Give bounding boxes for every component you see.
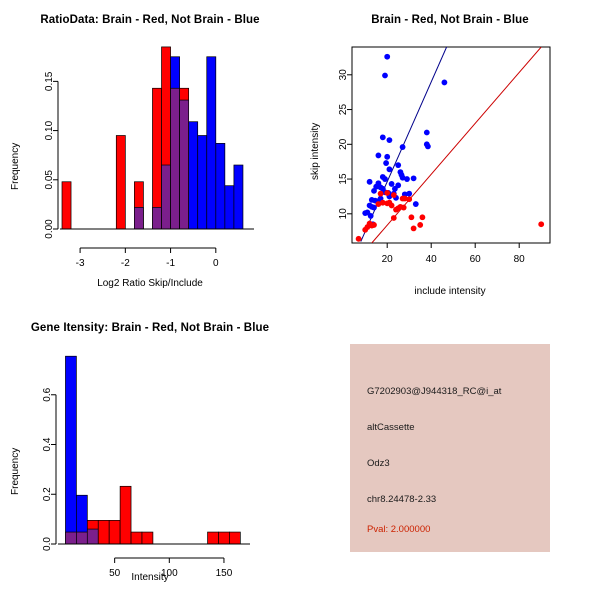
scatter-point (401, 205, 407, 211)
histogram-bar (208, 532, 219, 544)
histogram-bar (98, 520, 109, 544)
histogram-bar (62, 182, 71, 229)
scatter-point (389, 181, 395, 187)
plot-frame (352, 47, 550, 243)
scatter-ylabel: skip intensity (310, 123, 321, 180)
gene-histogram-title: Gene Itensity: Brain - Red, Not Brain - … (0, 322, 300, 334)
panel-ratio-histogram: RatioData: Brain - Red, Not Brain - Blue… (0, 0, 300, 300)
histogram-bar (234, 165, 243, 229)
x-tick-label: 80 (514, 254, 526, 265)
histogram-bar (207, 57, 216, 229)
scatter-point (411, 175, 417, 181)
gene-histogram-xlabel: Intensity (0, 572, 300, 583)
scatter-point (368, 213, 374, 219)
scatter-point (413, 201, 419, 207)
x-tick-label: -1 (166, 258, 175, 269)
histogram-bar (134, 207, 143, 229)
scatter-point (424, 130, 430, 136)
histogram-bar (229, 532, 240, 544)
y-tick-label: 0.05 (44, 170, 55, 190)
y-tick-label: 0.4 (42, 437, 53, 451)
scatter-point (382, 176, 388, 182)
ratio-histogram-plot: 0.000.050.100.15-3-2-10 (0, 0, 300, 300)
info-locus: chr8.24478-2.33 (367, 494, 436, 505)
x-tick-label: 0 (213, 258, 219, 269)
scatter-point (380, 200, 386, 206)
histogram-bar (152, 207, 161, 229)
histogram-bar (131, 532, 142, 544)
x-tick-label: 20 (382, 254, 394, 265)
histogram-bar (142, 532, 153, 544)
scatter-point (420, 214, 426, 220)
histogram-bar (189, 122, 198, 229)
scatter-point (387, 166, 393, 172)
scatter-xlabel: include intensity (300, 286, 600, 297)
ratio-histogram-ylabel: Frequency (10, 143, 21, 190)
histogram-bar (162, 165, 171, 229)
scatter-point (392, 186, 398, 192)
scatter-title: Brain - Red, Not Brain - Blue (300, 14, 600, 26)
scatter-point (406, 191, 412, 197)
histogram-bar (65, 356, 76, 544)
y-tick-label: 25 (338, 104, 349, 116)
scatter-point (356, 236, 362, 242)
histogram-bar (171, 88, 180, 229)
y-tick-label: 0.0 (42, 537, 53, 551)
scatter-point (425, 143, 431, 149)
histogram-bar (225, 186, 234, 229)
scatter-point (387, 200, 393, 206)
scatter-point (406, 196, 412, 202)
gene-histogram-plot: 0.00.20.40.650100150 (0, 300, 300, 600)
scatter-point (376, 153, 382, 159)
panel-gene-histogram: Gene Itensity: Brain - Red, Not Brain - … (0, 300, 300, 600)
scatter-point (367, 221, 373, 227)
y-tick-label: 0.2 (42, 487, 53, 501)
scatter-point (417, 222, 423, 228)
reference-line (361, 47, 447, 242)
histogram-bar (218, 532, 229, 544)
figure-root: RatioData: Brain - Red, Not Brain - Blue… (0, 0, 600, 600)
scatter-point (395, 162, 401, 168)
scatter-point (383, 160, 389, 166)
x-tick-label: 40 (426, 254, 438, 265)
y-tick-label: 0.10 (44, 120, 55, 140)
ratio-histogram-xlabel: Log2 Ratio Skip/Include (0, 278, 300, 289)
info-event-type: altCassette (367, 422, 415, 433)
info-gene-symbol: Odz3 (367, 458, 390, 469)
histogram-bar (216, 143, 225, 229)
histogram-bar (116, 136, 125, 230)
x-tick-label: 60 (470, 254, 482, 265)
y-tick-label: 0.6 (42, 387, 53, 401)
y-tick-label: 15 (338, 173, 349, 185)
scatter-point (362, 227, 368, 233)
scatter-point (382, 73, 388, 79)
scatter-point (442, 80, 448, 86)
panel-info: G7202903@J944318_RC@i_at altCassette Odz… (300, 300, 600, 600)
reference-line (372, 47, 541, 243)
scatter-plot: 101520253020406080 (300, 0, 600, 300)
y-tick-label: 0.00 (44, 219, 55, 239)
scatter-point (409, 214, 415, 220)
histogram-bar (76, 532, 87, 544)
scatter-point (384, 54, 390, 60)
scatter-point (404, 176, 410, 182)
histogram-bar (120, 486, 131, 544)
scatter-point (538, 221, 544, 227)
scatter-point (371, 188, 377, 194)
scatter-point (387, 137, 393, 143)
y-tick-label: 10 (338, 208, 349, 220)
scatter-point (391, 215, 397, 221)
scatter-point (411, 226, 417, 232)
histogram-bar (87, 529, 98, 544)
scatter-point (384, 154, 390, 160)
histogram-bar (109, 520, 120, 544)
gene-histogram-ylabel: Frequency (10, 448, 21, 495)
histogram-bar (180, 100, 189, 229)
histogram-bar (65, 532, 76, 544)
scatter-point (384, 190, 390, 196)
x-tick-label: -3 (76, 258, 85, 269)
y-tick-label: 30 (338, 69, 349, 81)
scatter-point (378, 191, 384, 197)
scatter-point (391, 192, 397, 198)
y-tick-label: 20 (338, 138, 349, 150)
panel-scatter: Brain - Red, Not Brain - Blue skip inten… (300, 0, 600, 300)
info-pval: Pval: 2.000000 (367, 524, 430, 535)
gene-info-box: G7202903@J944318_RC@i_at altCassette Odz… (350, 344, 550, 552)
x-tick-label: -2 (121, 258, 130, 269)
y-tick-label: 0.15 (44, 71, 55, 91)
histogram-bar (198, 136, 207, 230)
scatter-point (380, 134, 386, 140)
scatter-point (367, 179, 373, 185)
info-probe-id: G7202903@J944318_RC@i_at (367, 386, 501, 397)
ratio-histogram-title: RatioData: Brain - Red, Not Brain - Blue (0, 14, 300, 26)
scatter-point (400, 144, 406, 150)
